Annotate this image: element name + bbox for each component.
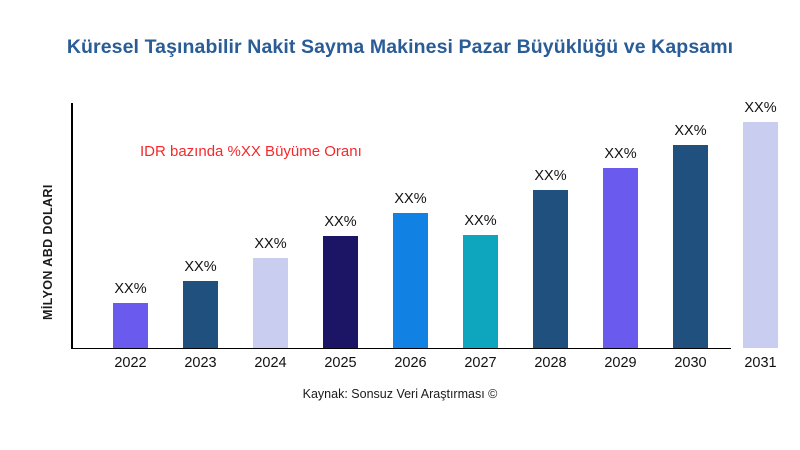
x-axis-tick-2027: 2027 [446,355,516,371]
bar-value-label-2022: XX% [96,281,166,297]
y-axis-line [71,103,73,349]
bar-value-label-2031: XX% [726,100,796,116]
bar-2023[interactable] [183,281,218,348]
bar-value-label-2027: XX% [446,213,516,229]
bar-2029[interactable] [603,168,638,348]
chart-title: Küresel Taşınabilir Nakit Sayma Makinesi… [0,36,800,59]
bar-2022[interactable] [113,303,148,348]
x-axis-tick-2029: 2029 [586,355,656,371]
growth-rate-annotation: IDR bazında %XX Büyüme Oranı [140,143,362,160]
bar-value-label-2028: XX% [516,168,586,184]
chart-container: Küresel Taşınabilir Nakit Sayma Makinesi… [0,0,800,450]
bar-2031[interactable] [743,122,778,348]
bar-2028[interactable] [533,190,568,348]
bar-value-label-2025: XX% [306,214,376,230]
x-axis-tick-2028: 2028 [516,355,586,371]
bar-2025[interactable] [323,236,358,348]
source-caption: Kaynak: Sonsuz Veri Araştırması © [0,387,800,401]
bar-2030[interactable] [673,145,708,348]
bar-value-label-2023: XX% [166,259,236,275]
bar-2024[interactable] [253,258,288,348]
bar-value-label-2026: XX% [376,191,446,207]
bar-value-label-2029: XX% [586,146,656,162]
bar-value-label-2024: XX% [236,236,306,252]
x-axis-tick-2026: 2026 [376,355,446,371]
x-axis-tick-2022: 2022 [96,355,166,371]
y-axis-label: MİLYON ABD DOLARI [34,20,62,320]
x-axis-tick-2023: 2023 [166,355,236,371]
x-axis-tick-2031: 2031 [726,355,796,371]
x-axis-tick-2025: 2025 [306,355,376,371]
x-axis-tick-2030: 2030 [656,355,726,371]
x-axis-tick-2024: 2024 [236,355,306,371]
bar-2026[interactable] [393,213,428,348]
bar-value-label-2030: XX% [656,123,726,139]
bar-2027[interactable] [463,235,498,348]
